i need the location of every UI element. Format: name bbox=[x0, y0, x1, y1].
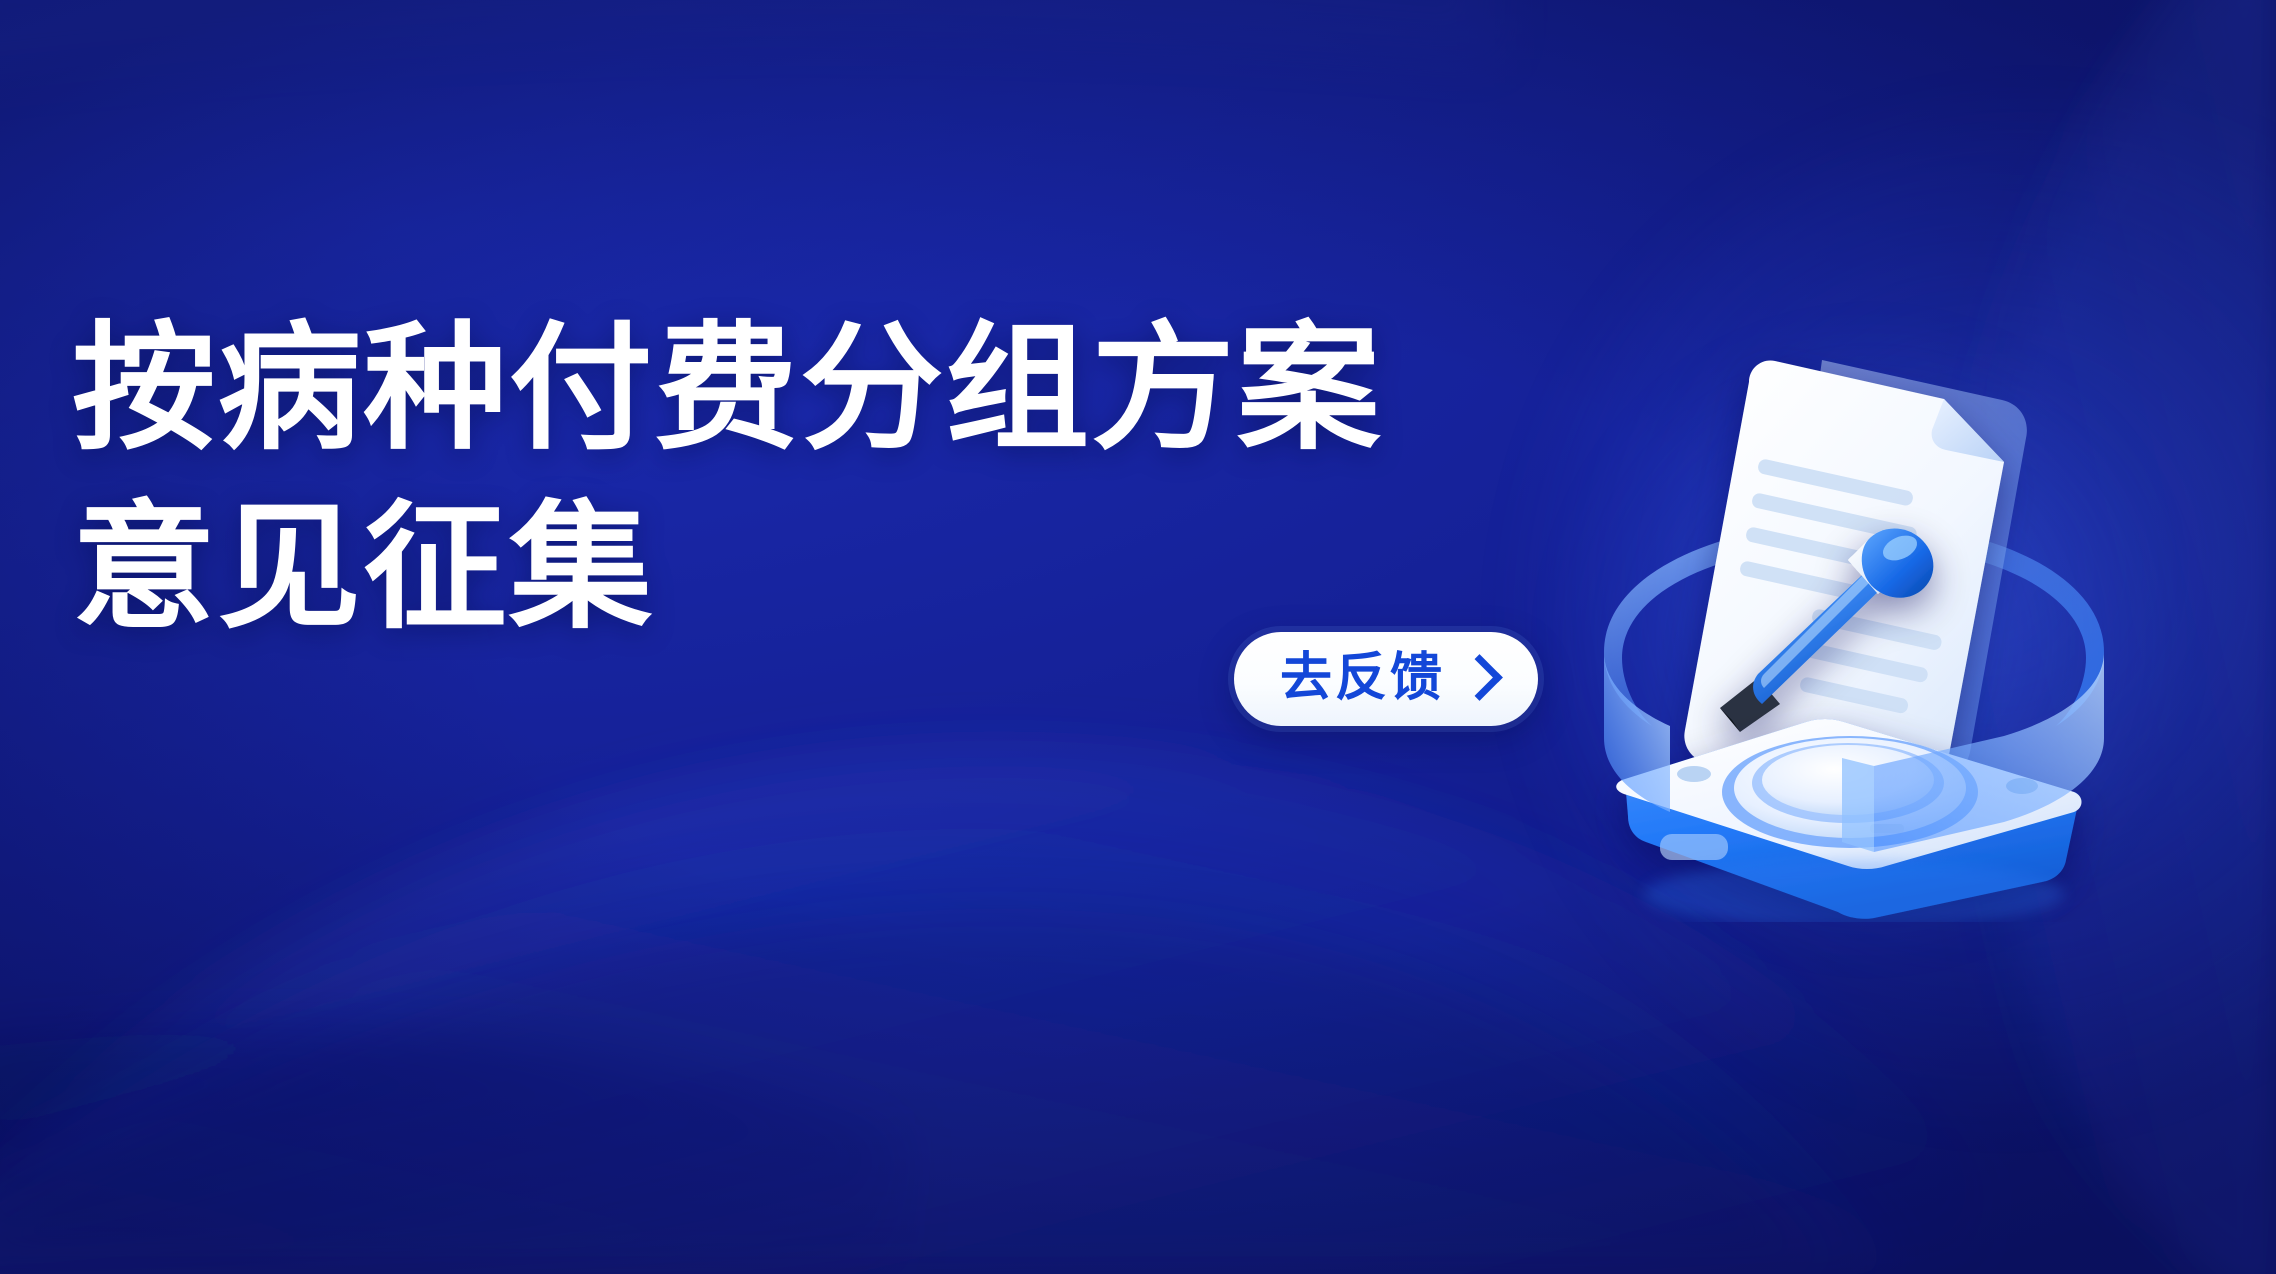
promo-banner: 按病种付费分组方案 意见征集 去反馈 bbox=[0, 0, 2276, 1274]
go-to-feedback-label: 去反馈 bbox=[1280, 652, 1445, 704]
headline-line-2: 意见征集 bbox=[72, 479, 1382, 658]
document-with-pen-on-platform-illustration bbox=[1574, 322, 2134, 922]
banner-headline: 按病种付费分组方案 意见征集 bbox=[72, 300, 1332, 659]
headline-line-1: 按病种付费分组方案 bbox=[72, 300, 1382, 479]
chevron-right-icon bbox=[1456, 654, 1503, 701]
go-to-feedback-button[interactable]: 去反馈 bbox=[1234, 632, 1538, 726]
